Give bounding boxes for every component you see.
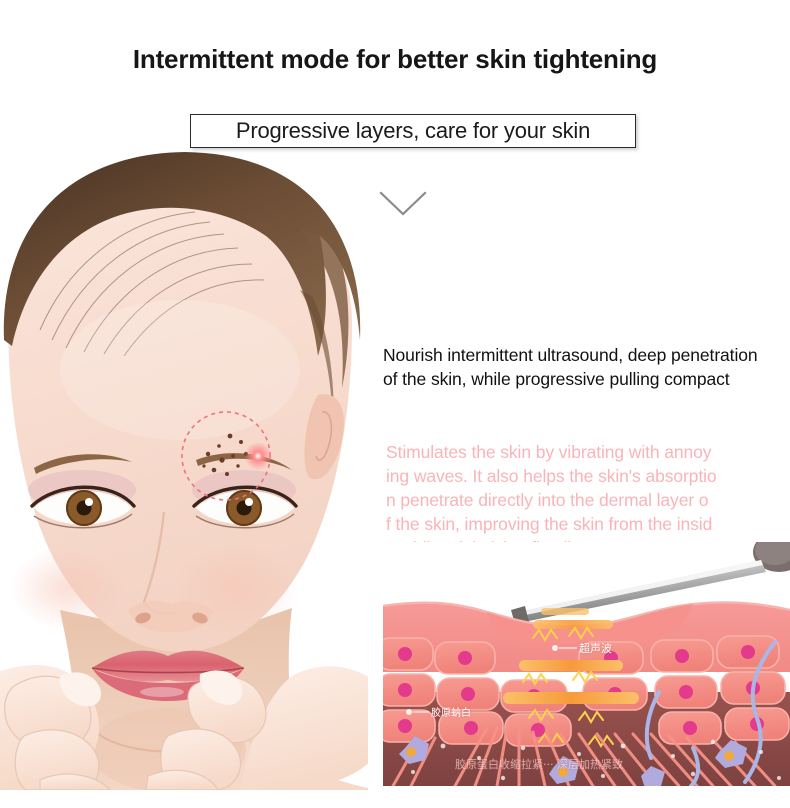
diagram-label-collagen: 胶原蚋白 (431, 704, 471, 719)
skin-cross-section-diagram: 超声波 胶原蚋白 胶原蛋白收缩拉紧··· 深层加热紧致 (383, 542, 790, 786)
chevron-down-icon (378, 190, 428, 218)
subtitle-box: Progressive layers, care for your skin (190, 114, 636, 148)
highlight-line-4: f the skin, improving the skin from the … (386, 512, 774, 536)
blemish-spots (202, 434, 248, 476)
blemish-callout (178, 408, 438, 504)
page-root: Intermittent mode for better skin tighte… (0, 0, 790, 808)
highlight-line-2: ing waves. It also helps the skin's abso… (386, 464, 774, 488)
page-title: Intermittent mode for better skin tighte… (0, 44, 790, 75)
highlight-line-1: Stimulates the skin by vibrating with an… (386, 440, 774, 464)
highlight-line-3: n penetrate directly into the dermal lay… (386, 488, 774, 512)
diagram-label-tightening: 胶原蛋白收缩拉紧··· 深层加热紧致 (455, 756, 623, 772)
skin-layers-illustration (383, 542, 790, 786)
diagram-label-ultrasound: 超声波 (579, 640, 612, 656)
subtitle-text: Progressive layers, care for your skin (236, 118, 590, 144)
description-paragraph: Nourish intermittent ultrasound, deep pe… (383, 343, 775, 391)
